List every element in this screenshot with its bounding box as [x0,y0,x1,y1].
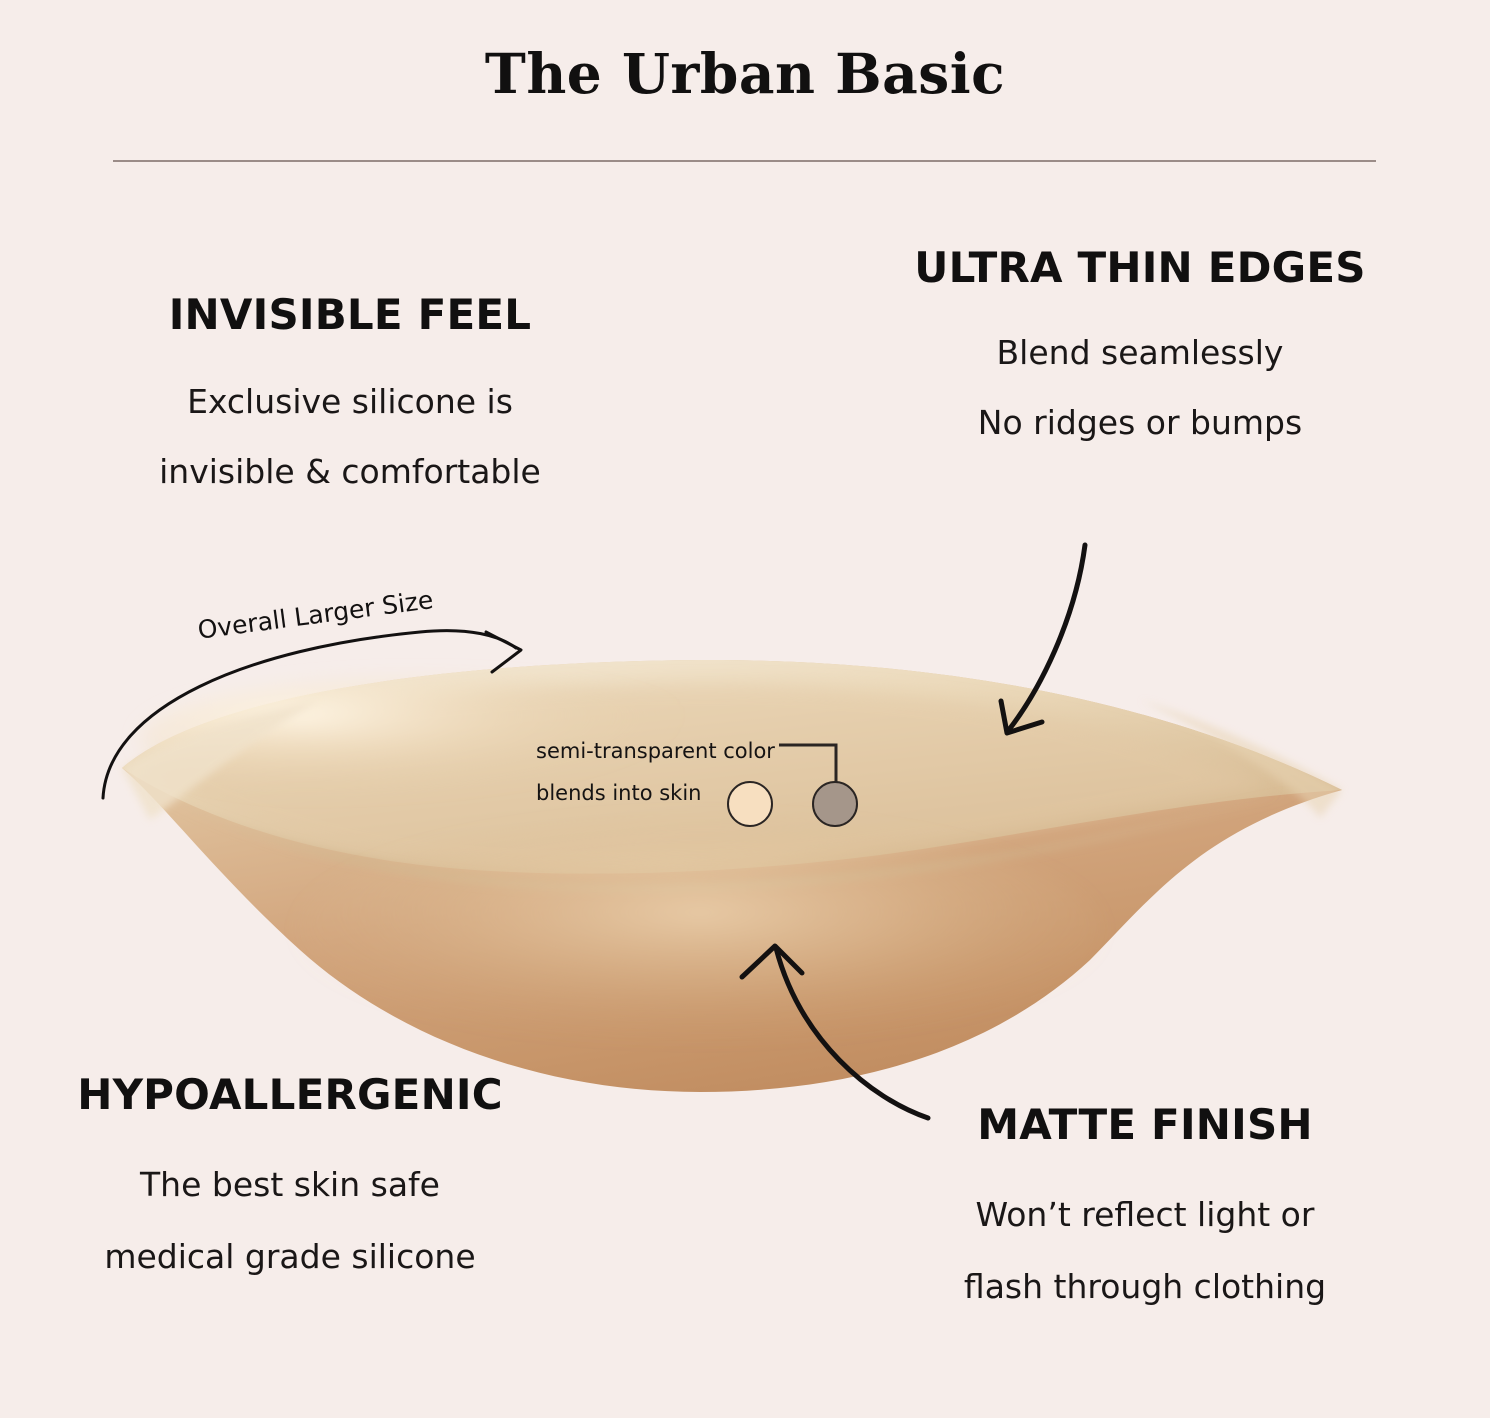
page-title: The Urban Basic [0,46,1490,101]
ultra-thin-edges-arrow [1001,545,1085,733]
feature-line: Blend seamlessly [900,318,1380,388]
overall-larger-size-label: Overall Larger Size [196,585,435,645]
swatch-deep-taupe [812,781,858,827]
feature-line: The best skin safe [50,1149,530,1221]
feature-lines: Won’t reflect light or flash through clo… [910,1179,1380,1323]
feature-lines: Blend seamlessly No ridges or bumps [900,318,1380,458]
feature-heading: MATTE FINISH [910,1100,1380,1149]
size-arrow [103,631,521,798]
swatch-leader-line [779,745,836,784]
feature-line: No ridges or bumps [900,388,1380,458]
feature-line: invisible & comfortable [110,437,590,507]
swatch-light-nude [727,781,773,827]
feature-hypoallergenic: HYPOALLERGENIC The best skin safe medica… [50,1070,530,1293]
feature-line: medical grade silicone [50,1221,530,1293]
matte-finish-arrow [742,946,928,1118]
feature-line: flash through clothing [910,1251,1380,1323]
infographic-canvas: The Urban Basic [0,0,1490,1418]
header-divider [113,160,1376,162]
feature-heading: ULTRA THIN EDGES [900,243,1380,292]
product-highlight-body [300,820,1100,1040]
feature-invisible-feel: INVISIBLE FEEL Exclusive silicone is inv… [110,290,590,507]
product-body [122,660,1342,1092]
color-note-line-1: semi-transparent color [536,730,775,772]
feature-lines: The best skin safe medical grade silicon… [50,1149,530,1293]
feature-line: Exclusive silicone is [110,367,590,437]
product-right-tip [1140,700,1342,818]
feature-heading: HYPOALLERGENIC [50,1070,530,1119]
feature-matte-finish: MATTE FINISH Won’t reflect light or flas… [910,1100,1380,1323]
feature-ultra-thin-edges: ULTRA THIN EDGES Blend seamlessly No rid… [900,243,1380,458]
feature-lines: Exclusive silicone is invisible & comfor… [110,367,590,507]
product-left-tip [122,700,320,820]
feature-heading: INVISIBLE FEEL [110,290,590,339]
feature-line: Won’t reflect light or [910,1179,1380,1251]
